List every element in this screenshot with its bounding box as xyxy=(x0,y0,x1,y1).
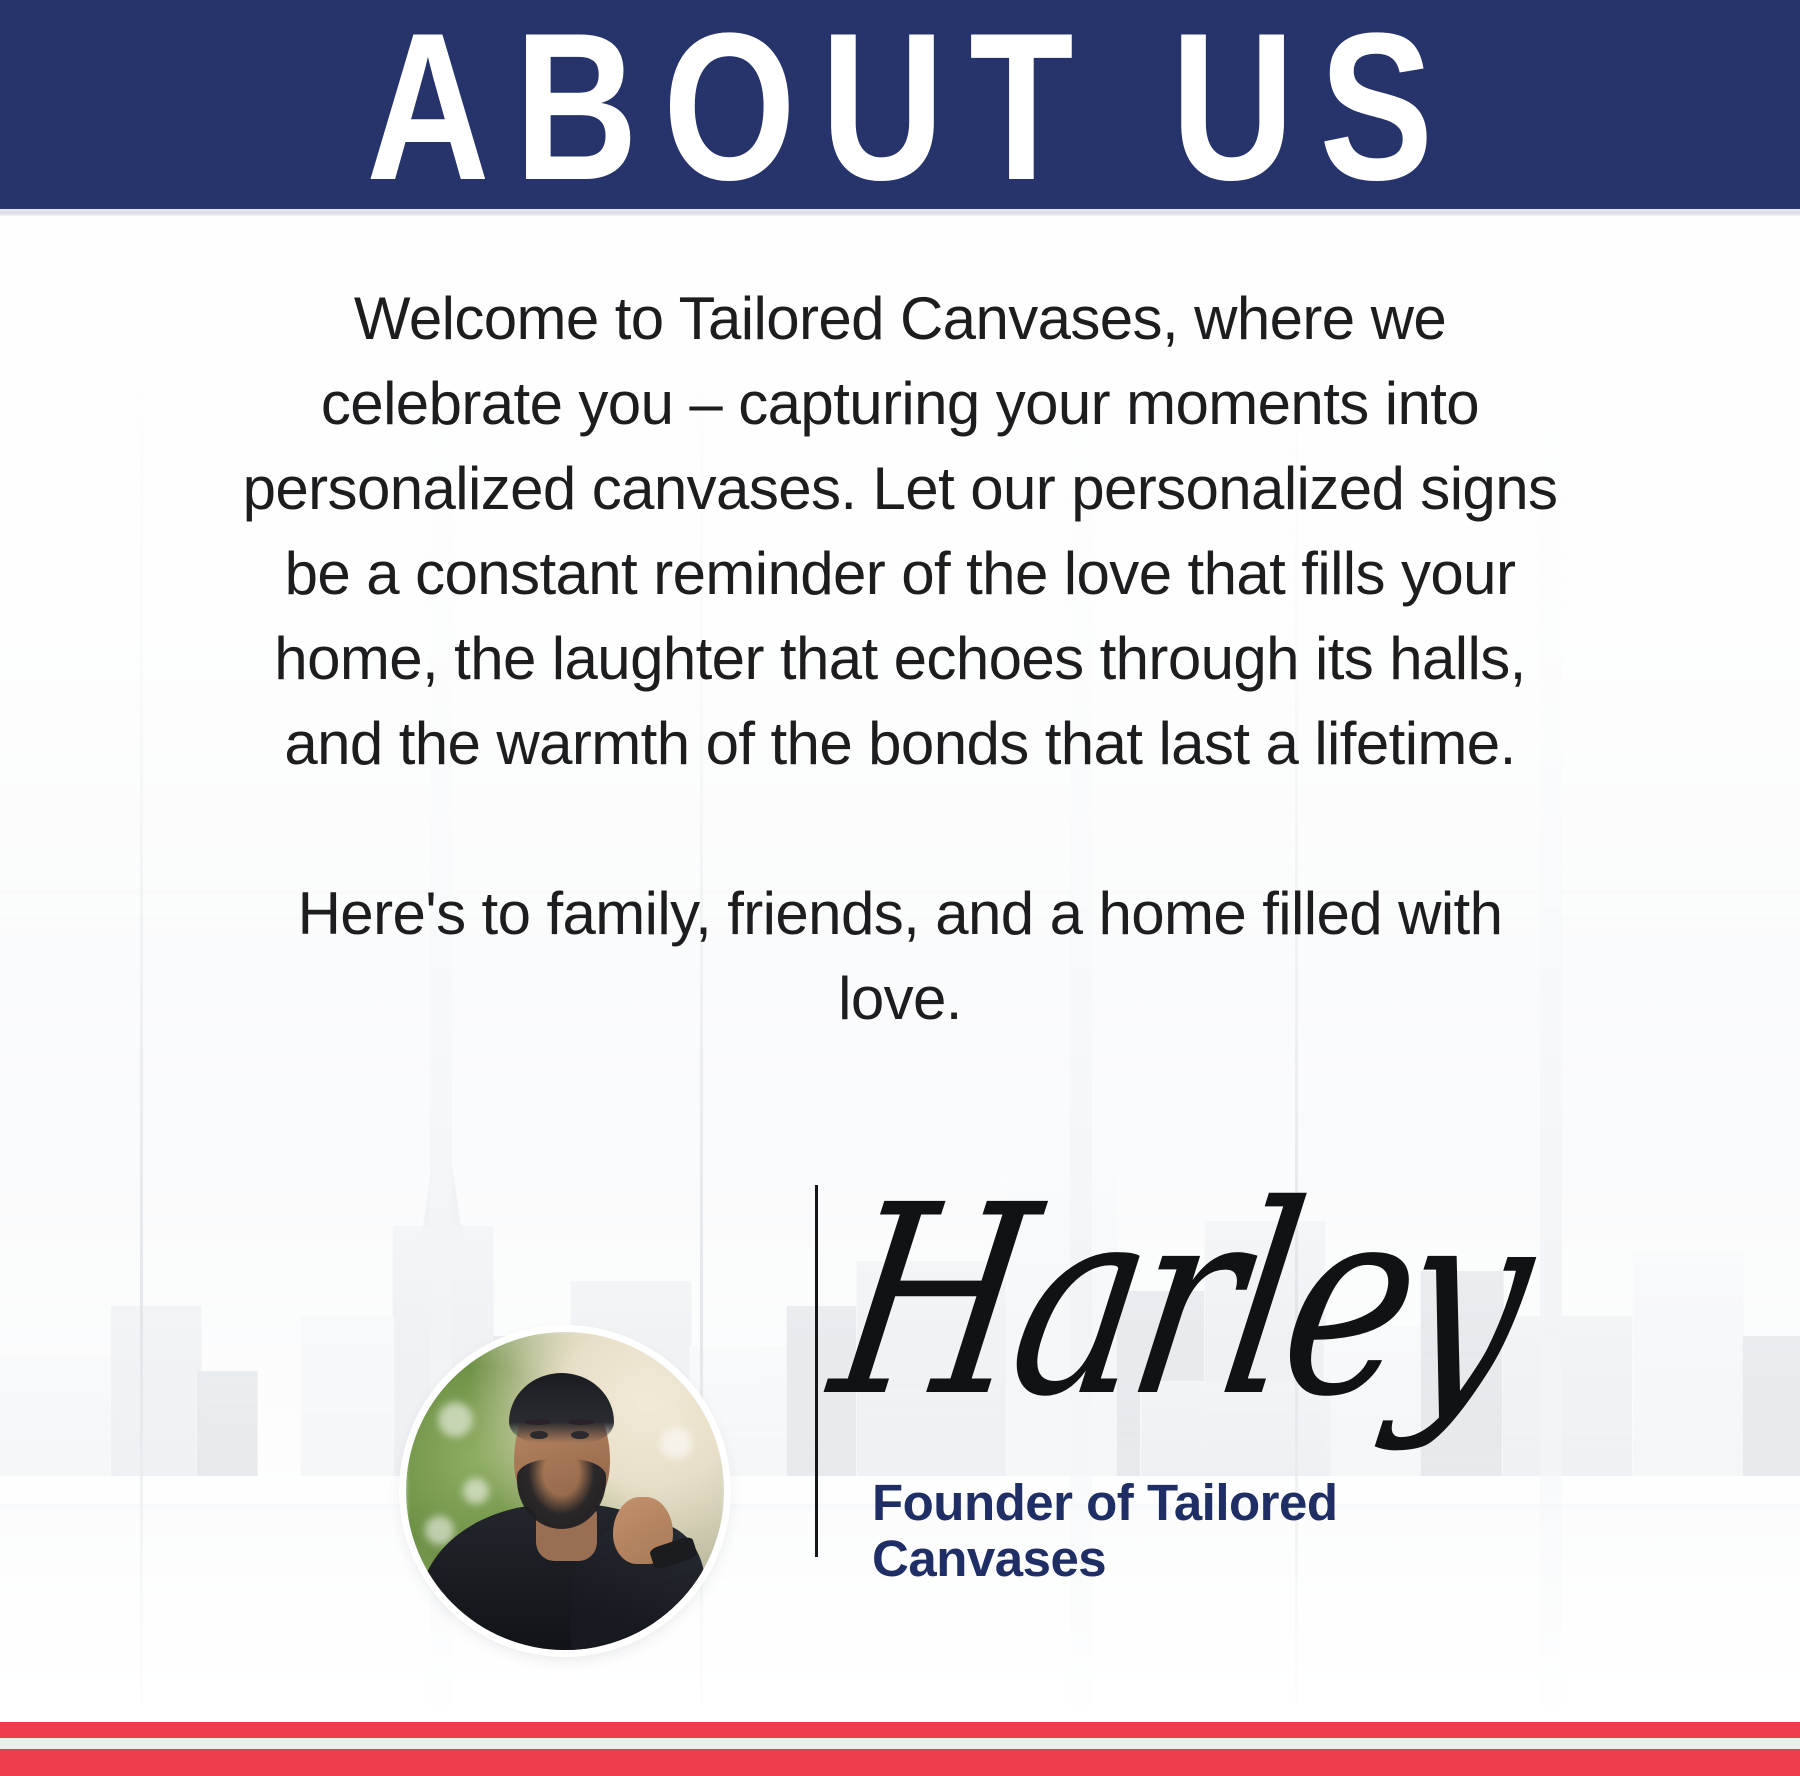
footer-stripe-bottom xyxy=(0,1749,1800,1776)
header-banner: ABOUT US xyxy=(0,0,1800,209)
about-us-poster: ABOUT US Welcome to Tailored Canvases, w… xyxy=(0,0,1800,1776)
founder-portrait-photo xyxy=(406,1332,724,1650)
signature-block: Harley Founder of Tailored Canvases xyxy=(0,1140,1800,1570)
about-paragraph-2: Here's to family, friends, and a home fi… xyxy=(240,871,1560,1041)
signature-divider xyxy=(815,1185,818,1557)
avatar xyxy=(406,1332,724,1650)
founder-role: Founder of Tailored Canvases xyxy=(872,1475,1492,1587)
founder-role-line-1: Founder of Tailored xyxy=(872,1475,1492,1531)
footer-stripe-top xyxy=(0,1722,1800,1738)
about-text: Welcome to Tailored Canvases, where we c… xyxy=(240,276,1560,1041)
founder-signature: Harley xyxy=(820,1170,1502,1432)
footer-stripe-gap xyxy=(0,1738,1800,1749)
about-paragraph-1: Welcome to Tailored Canvases, where we c… xyxy=(240,276,1560,786)
founder-role-line-2: Canvases xyxy=(872,1531,1492,1587)
header-underline xyxy=(0,209,1800,216)
page-title: ABOUT US xyxy=(341,1,1458,209)
